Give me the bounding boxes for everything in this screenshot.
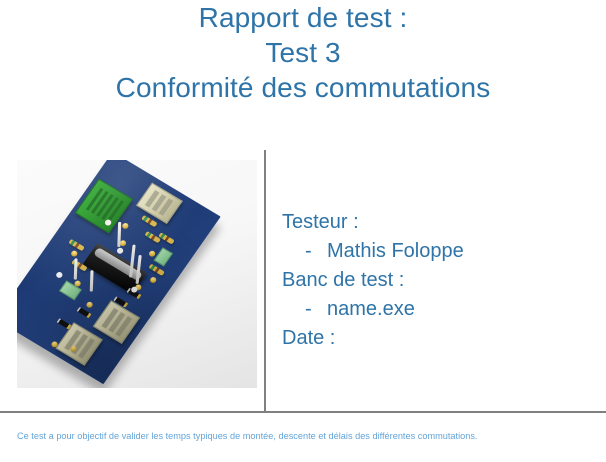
bench-value: name.exe <box>327 298 415 320</box>
date-label: Date : <box>282 324 582 353</box>
pcb-image <box>17 160 257 388</box>
solder-pad-icon <box>85 301 94 309</box>
tester-value-row: -Mathis Foloppe <box>282 237 582 266</box>
bench-label: Banc de test : <box>282 266 582 295</box>
diode-icon-4 <box>57 318 72 329</box>
pcb-trace <box>90 270 94 291</box>
diode-icon-3 <box>77 307 92 318</box>
solder-pad-icon <box>149 276 158 284</box>
footer-caption: Ce test a pour objectif de valider les t… <box>17 429 565 444</box>
bullet-dash: - <box>305 295 327 324</box>
via-hole <box>116 247 125 255</box>
resistor-icon-3 <box>158 232 175 244</box>
capacitor-icon-2 <box>154 247 173 266</box>
horizontal-divider <box>0 411 606 413</box>
via-hole <box>55 271 64 279</box>
vertical-divider <box>264 150 266 412</box>
title-line-1: Rapport de test : <box>0 0 606 35</box>
pcb-trace <box>74 258 78 279</box>
tester-value: Mathis Foloppe <box>327 240 464 262</box>
pcb-board-icon <box>17 160 221 384</box>
page-title: Rapport de test : Test 3 Conformité des … <box>0 0 606 105</box>
title-line-3: Conformité des commutations <box>0 70 606 105</box>
tester-label: Testeur : <box>282 208 582 237</box>
solder-pad-icon <box>121 222 130 230</box>
bullet-dash: - <box>305 237 327 266</box>
test-info-block: Testeur : -Mathis Foloppe Banc de test :… <box>282 208 582 353</box>
solder-pad-icon <box>70 250 79 258</box>
title-line-2: Test 3 <box>0 35 606 70</box>
resistor-icon-5 <box>68 239 85 251</box>
bench-value-row: -name.exe <box>282 295 582 324</box>
